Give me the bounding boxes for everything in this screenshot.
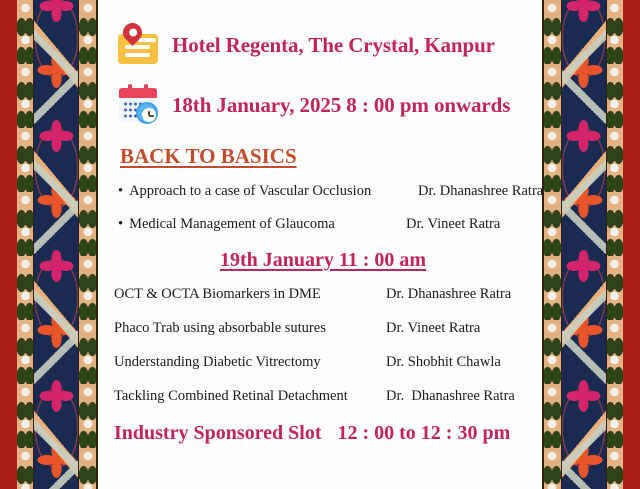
session-two-title-text: 19th January 11 : 00 am bbox=[220, 249, 426, 271]
speaker-label: Dr. Dhanashree Ratra bbox=[386, 286, 511, 303]
venue-text: Hotel Regenta, The Crystal, Kanpur bbox=[172, 33, 495, 58]
ornamental-border-left bbox=[0, 0, 100, 489]
border-tan-band-outer bbox=[17, 0, 34, 489]
speaker-label: Dr. Shobhit Chawla bbox=[386, 354, 501, 371]
date-row: 18th January, 2025 8 : 00 pm onwards bbox=[108, 82, 538, 128]
event-poster: Hotel Regenta, The Crystal, Kanpur 18th … bbox=[0, 0, 640, 489]
location-card-icon bbox=[116, 22, 162, 68]
ornamental-border-right bbox=[540, 0, 640, 489]
topic-label: OCT & OCTA Biomarkers in DME bbox=[114, 286, 386, 303]
list-item: Tackling Combined Retinal Detachment Dr.… bbox=[114, 388, 538, 405]
session-one-title: BACK TO BASICS bbox=[120, 144, 297, 169]
calendar-tab bbox=[144, 84, 148, 92]
topic-label: Tackling Combined Retinal Detachment bbox=[114, 388, 386, 405]
topic-label: Phaco Trab using absorbable sutures bbox=[114, 320, 386, 337]
border-divider bbox=[542, 0, 544, 489]
calendar-header bbox=[119, 88, 157, 98]
topic-label: Medical Management of Glaucoma bbox=[118, 216, 418, 233]
session-one-list: Approach to a case of Vascular Occlusion… bbox=[118, 183, 538, 233]
speaker-label: Dr. Vineet Ratra bbox=[386, 320, 480, 337]
list-item: Medical Management of Glaucoma Dr. Vinee… bbox=[118, 216, 538, 233]
border-red-band bbox=[0, 0, 17, 489]
speaker-label: Dr. Dhanashree Ratra bbox=[418, 183, 543, 200]
border-navy-band bbox=[561, 0, 606, 489]
border-tan-band-outer bbox=[606, 0, 623, 489]
speaker-label: Dr. Dhanashree Ratra bbox=[386, 388, 515, 405]
session-two-list: OCT & OCTA Biomarkers in DME Dr. Dhanash… bbox=[114, 286, 538, 405]
session-two-title: 19th January 11 : 00 am bbox=[108, 249, 538, 272]
border-tan-band-inner bbox=[543, 0, 561, 489]
sponsor-slot-time: 12 : 00 to 12 : 30 pm bbox=[337, 422, 510, 445]
leaf-dot-motif bbox=[606, 0, 623, 489]
border-tan-band-inner bbox=[79, 0, 97, 489]
card-line bbox=[138, 38, 156, 42]
topic-label: Understanding Diabetic Vitrectomy bbox=[114, 354, 386, 371]
sponsor-slot-label: Industry Sponsored Slot bbox=[114, 422, 321, 445]
clock-icon bbox=[136, 102, 158, 124]
speaker-label: Dr. Vineet Ratra bbox=[406, 216, 500, 233]
sponsor-slot-row: Industry Sponsored Slot 12 : 00 to 12 : … bbox=[114, 422, 538, 445]
calendar-clock-icon bbox=[116, 82, 162, 128]
ornament-glyph-motif bbox=[34, 0, 79, 489]
list-item: Phaco Trab using absorbable sutures Dr. … bbox=[114, 320, 538, 337]
leaf-dot-motif bbox=[79, 0, 97, 489]
calendar-tab bbox=[128, 84, 132, 92]
clock-minute-hand bbox=[149, 115, 154, 117]
leaf-dot-motif bbox=[17, 0, 34, 489]
ornament-glyph-motif bbox=[561, 0, 606, 489]
list-item: Approach to a case of Vascular Occlusion… bbox=[118, 183, 538, 200]
list-item: OCT & OCTA Biomarkers in DME Dr. Dhanash… bbox=[114, 286, 538, 303]
leaf-dot-motif bbox=[543, 0, 561, 489]
border-red-band bbox=[623, 0, 640, 489]
list-item: Understanding Diabetic Vitrectomy Dr. Sh… bbox=[114, 354, 538, 371]
border-divider bbox=[96, 0, 98, 489]
poster-content: Hotel Regenta, The Crystal, Kanpur 18th … bbox=[100, 0, 540, 489]
date-text: 18th January, 2025 8 : 00 pm onwards bbox=[172, 93, 510, 118]
border-navy-band bbox=[34, 0, 79, 489]
topic-label: Approach to a case of Vascular Occlusion bbox=[118, 183, 418, 200]
venue-row: Hotel Regenta, The Crystal, Kanpur bbox=[108, 22, 538, 68]
